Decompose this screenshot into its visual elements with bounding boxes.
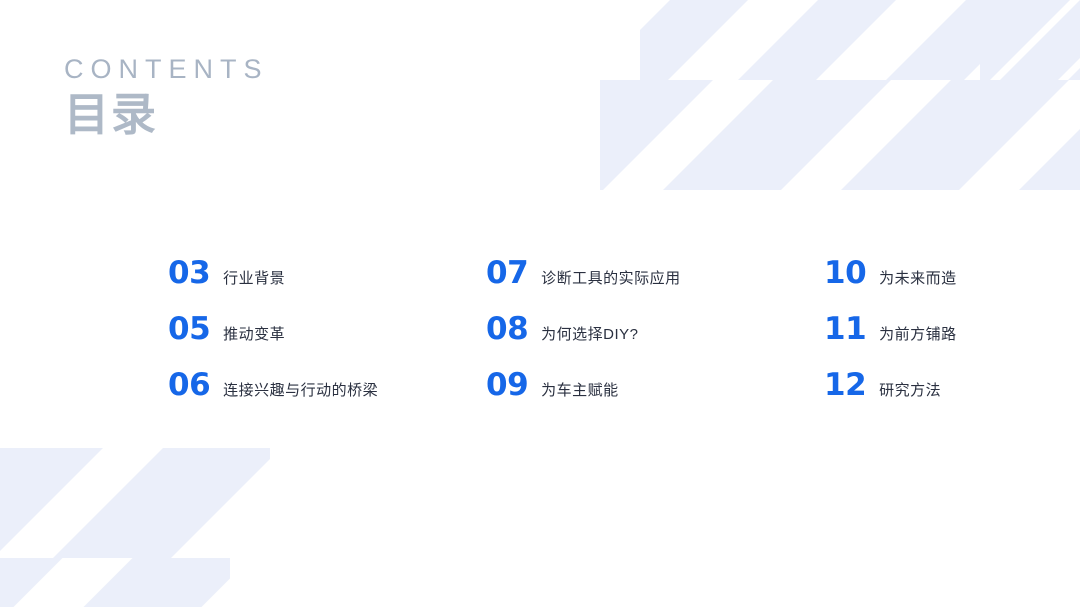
toc-number: 08: [486, 314, 528, 345]
table-of-contents: 03 行业背景 05 推动变革 06 连接兴趣与行动的桥梁 07 诊断工具的实际…: [0, 258, 1080, 426]
toc-item-08[interactable]: 08 为何选择DIY?: [486, 314, 806, 370]
toc-label: 为何选择DIY?: [541, 327, 638, 342]
toc-number: 12: [824, 370, 866, 401]
toc-label: 为前方铺路: [879, 327, 957, 342]
page-title: 目录: [64, 91, 269, 138]
toc-label: 为车主赋能: [541, 383, 619, 398]
toc-number: 09: [486, 370, 528, 401]
toc-column-1: 03 行业背景 05 推动变革 06 连接兴趣与行动的桥梁: [0, 258, 478, 426]
toc-item-09[interactable]: 09 为车主赋能: [486, 370, 806, 426]
toc-number: 07: [486, 258, 528, 289]
decorative-stripes-top-right-band-1: [640, 0, 1080, 80]
toc-item-10[interactable]: 10 为未来而造: [824, 258, 1080, 314]
toc-number: 05: [168, 314, 210, 345]
toc-label: 研究方法: [879, 383, 941, 398]
toc-item-07[interactable]: 07 诊断工具的实际应用: [486, 258, 806, 314]
toc-label: 为未来而造: [879, 271, 957, 286]
toc-number: 03: [168, 258, 210, 289]
toc-item-06[interactable]: 06 连接兴趣与行动的桥梁: [168, 370, 478, 426]
contents-slide: CONTENTS 目录 03 行业背景 05 推动变革 06 连接兴趣与行动的桥…: [0, 0, 1080, 607]
decorative-stripes-bottom-left-band-2: [0, 558, 230, 607]
toc-number: 06: [168, 370, 210, 401]
toc-label: 行业背景: [223, 271, 285, 286]
contents-eyebrow: CONTENTS: [64, 56, 269, 83]
toc-column-2: 07 诊断工具的实际应用 08 为何选择DIY? 09 为车主赋能: [478, 258, 806, 426]
toc-label: 诊断工具的实际应用: [541, 271, 681, 286]
toc-item-11[interactable]: 11 为前方铺路: [824, 314, 1080, 370]
slide-header: CONTENTS 目录: [64, 56, 269, 138]
toc-label: 推动变革: [223, 327, 285, 342]
decorative-stripes-top-right-band-2: [600, 80, 1080, 190]
toc-item-03[interactable]: 03 行业背景: [168, 258, 478, 314]
decorative-stripes-bottom-left-band-1: [0, 448, 270, 558]
toc-label: 连接兴趣与行动的桥梁: [223, 383, 378, 398]
toc-number: 11: [824, 314, 866, 345]
toc-item-05[interactable]: 05 推动变革: [168, 314, 478, 370]
decorative-stripes-top-right-band-3: [980, 0, 1080, 80]
toc-item-12[interactable]: 12 研究方法: [824, 370, 1080, 426]
toc-column-3: 10 为未来而造 11 为前方铺路 12 研究方法: [806, 258, 1080, 426]
toc-number: 10: [824, 258, 866, 289]
